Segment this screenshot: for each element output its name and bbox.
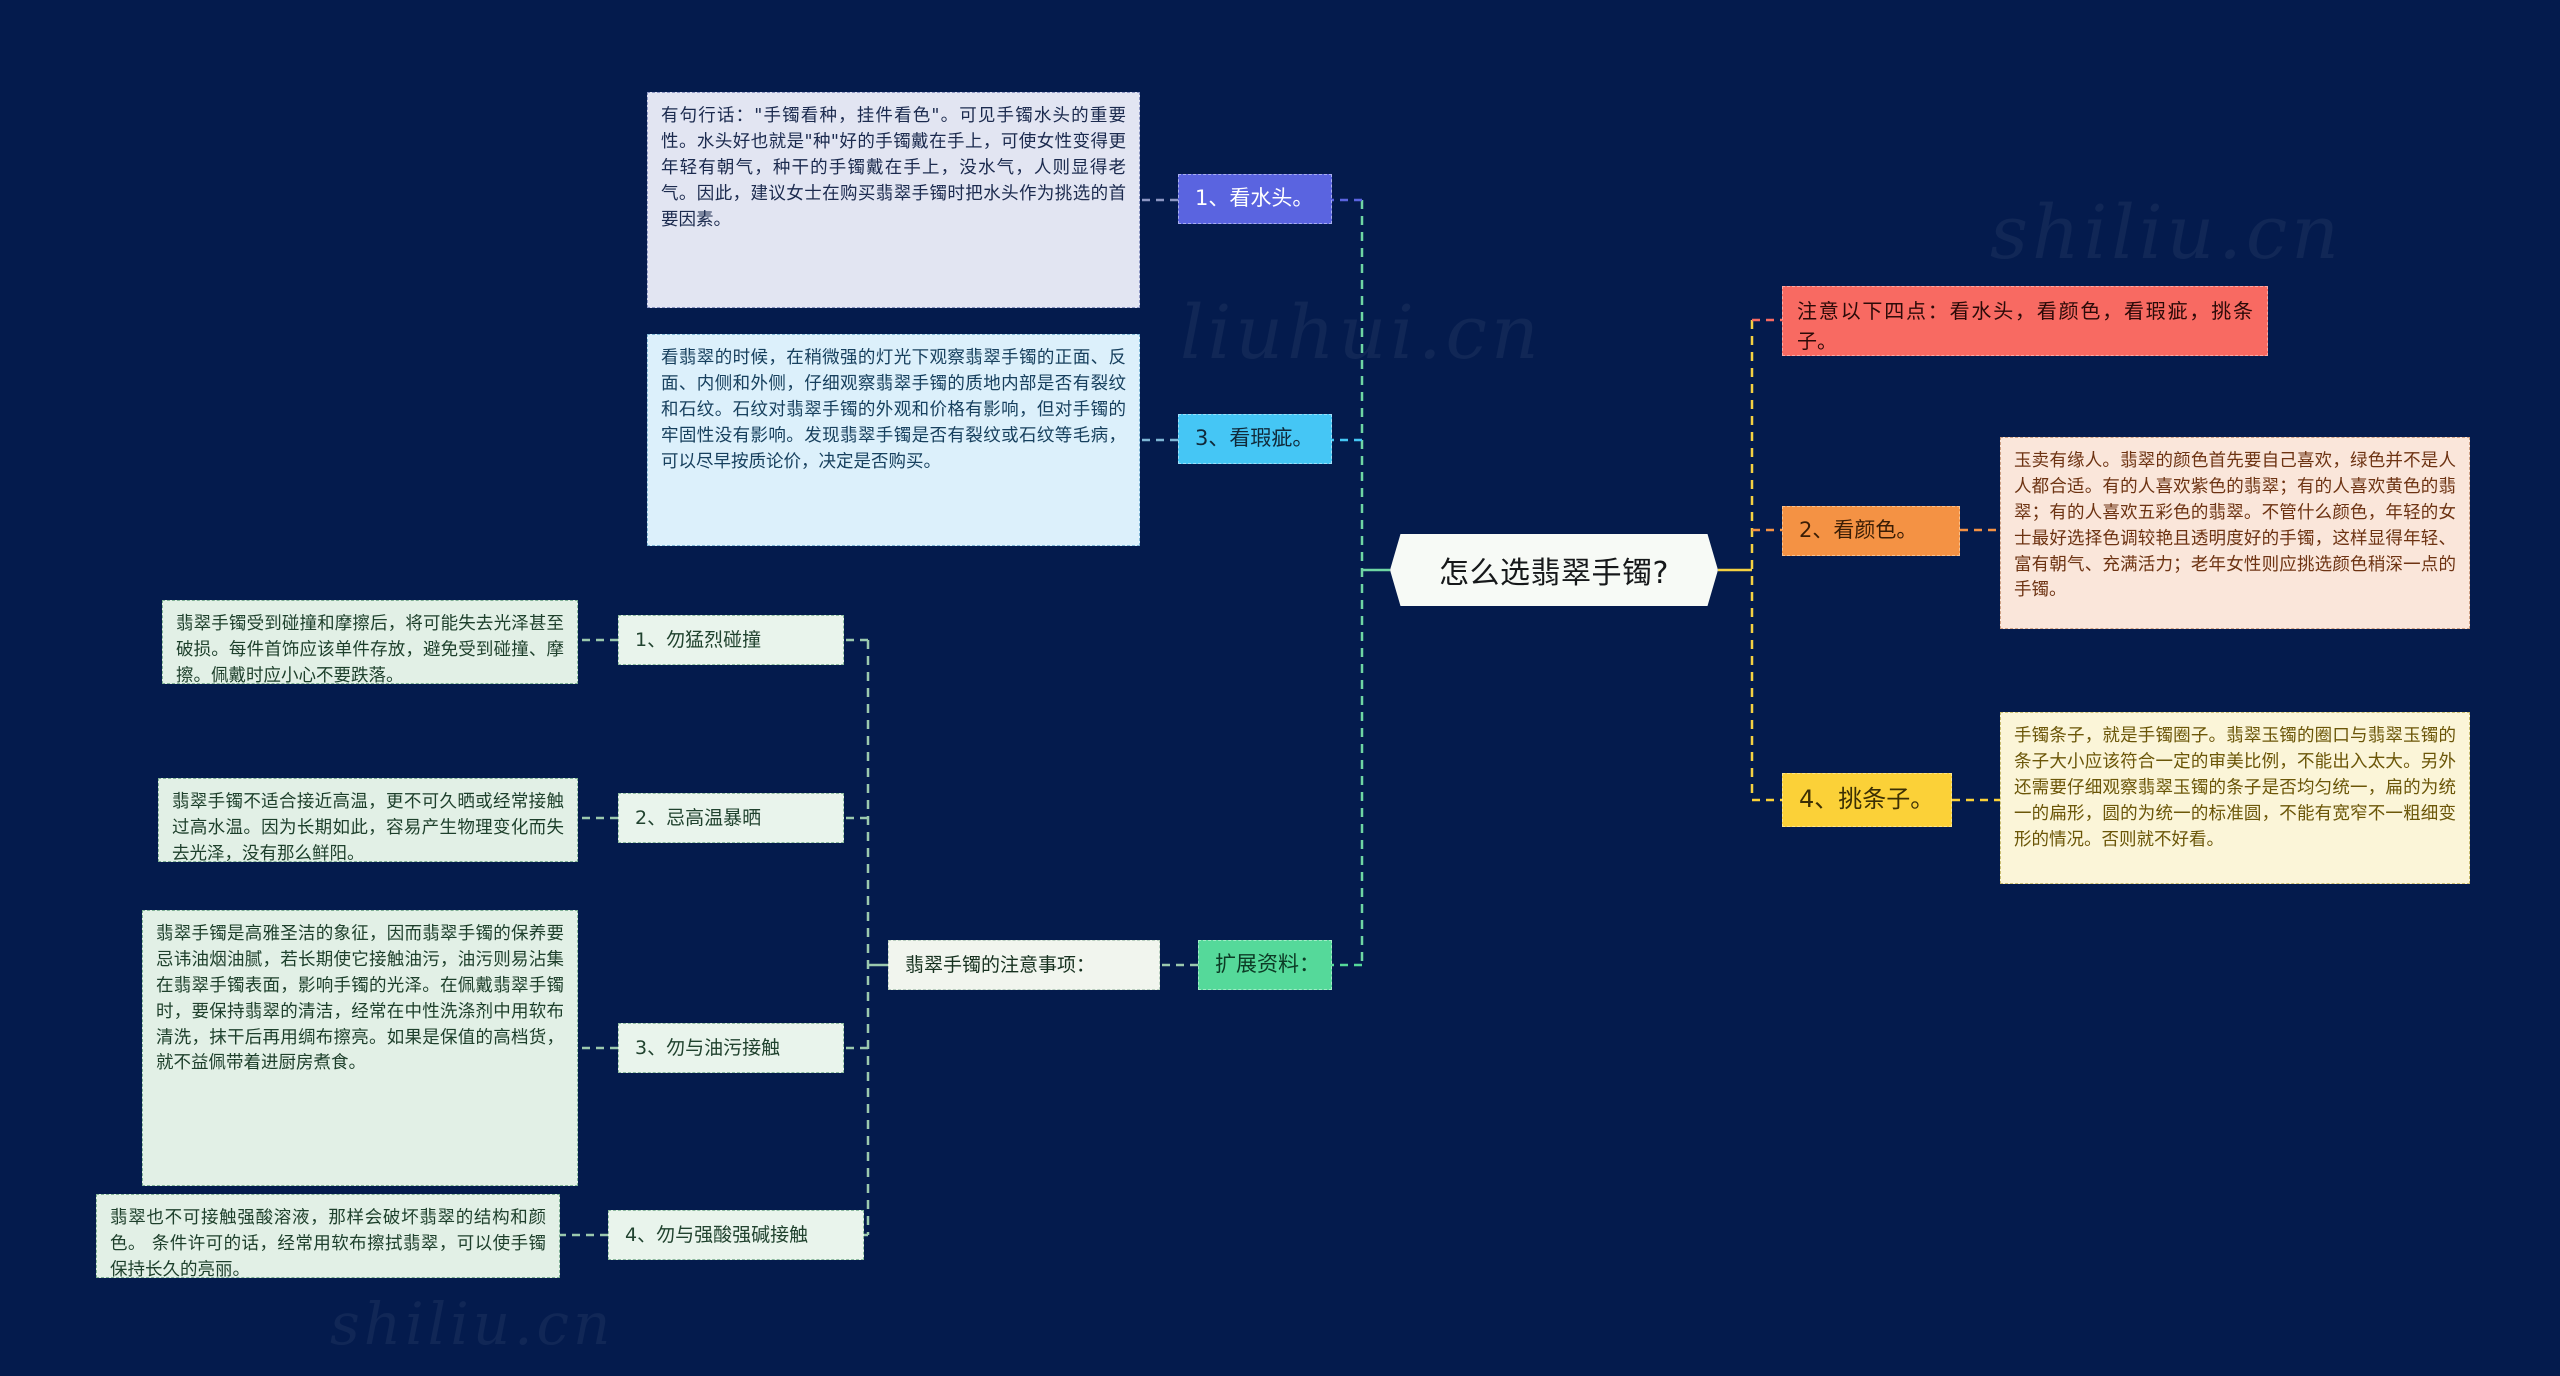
watermark: shiliu.cn — [1990, 190, 2343, 276]
node-kanshuitou[interactable]: 1、看水头。 — [1178, 174, 1332, 224]
node-kanyanse[interactable]: 2、看颜色。 — [1782, 506, 1960, 556]
summary-four-points: 注意以下四点：看水头，看颜色，看瑕疵，挑条子。 — [1782, 286, 2268, 356]
node-kanyanse-label: 2、看颜色。 — [1799, 515, 1917, 546]
detail-kanxiaci: 看翡翠的时候，在稍微强的灯光下观察翡翠手镯的正面、反面、内侧和外侧，仔细观察翡翠… — [647, 334, 1140, 546]
detail-kanshuitou: 有句行话："手镯看种，挂件看色"。可见手镯水头的重要性。水头好也就是"种"好的手… — [647, 92, 1140, 308]
node-no-acid-label: 4、勿与强酸强碱接触 — [625, 1221, 808, 1249]
node-kanxiaci-label: 3、看瑕疵。 — [1195, 423, 1313, 454]
detail-kanyanse: 玉卖有缘人。翡翠的颜色首先要自己喜欢，绿色并不是人人都合适。有的人喜欢紫色的翡翠… — [2000, 437, 2470, 629]
node-precautions-label: 翡翠手镯的注意事项： — [905, 951, 1095, 979]
node-kanshuitou-label: 1、看水头。 — [1195, 183, 1313, 214]
node-no-heat[interactable]: 2、忌高温暴晒 — [618, 793, 844, 843]
node-no-acid[interactable]: 4、勿与强酸强碱接触 — [608, 1210, 864, 1260]
detail-tiaotiaozi: 手镯条子，就是手镯圈子。翡翠玉镯的圈口与翡翠玉镯的条子大小应该符合一定的审美比例… — [2000, 712, 2470, 884]
node-no-heat-label: 2、忌高温暴晒 — [635, 804, 761, 832]
detail-no-oil: 翡翠手镯是高雅圣洁的象征，因而翡翠手镯的保养要忌讳油烟油腻，若长期使它接触油污，… — [142, 910, 578, 1186]
node-no-impact[interactable]: 1、勿猛烈碰撞 — [618, 615, 844, 665]
node-tiaotiaozi-label: 4、挑条子。 — [1799, 782, 1934, 818]
detail-no-heat: 翡翠手镯不适合接近高温，更不可久晒或经常接触过高水温。因为长期如此，容易产生物理… — [158, 778, 578, 862]
node-kanxiaci[interactable]: 3、看瑕疵。 — [1178, 414, 1332, 464]
node-no-oil-label: 3、勿与油污接触 — [635, 1034, 780, 1062]
watermark: liuhui.cn — [1180, 290, 1543, 376]
node-precautions[interactable]: 翡翠手镯的注意事项： — [888, 940, 1160, 990]
mindmap-canvas: shiliu.cn liuhui.cn shiliu.cn — [0, 0, 2560, 1376]
central-node-label: 怎么选翡翠手镯? — [1439, 548, 1669, 592]
watermark: shiliu.cn — [330, 1290, 614, 1358]
detail-no-acid: 翡翠也不可接触强酸溶液，那样会破坏翡翠的结构和颜色。 条件许可的话，经常用软布擦… — [96, 1194, 560, 1278]
node-tiaotiaozi[interactable]: 4、挑条子。 — [1782, 773, 1952, 827]
central-node[interactable]: 怎么选翡翠手镯? — [1390, 534, 1718, 606]
node-no-impact-label: 1、勿猛烈碰撞 — [635, 626, 761, 654]
node-extension-label: 扩展资料： — [1215, 949, 1320, 980]
node-extension[interactable]: 扩展资料： — [1198, 940, 1332, 990]
node-no-oil[interactable]: 3、勿与油污接触 — [618, 1023, 844, 1073]
detail-no-impact: 翡翠手镯受到碰撞和摩擦后，将可能失去光泽甚至破损。每件首饰应该单件存放，避免受到… — [162, 600, 578, 684]
